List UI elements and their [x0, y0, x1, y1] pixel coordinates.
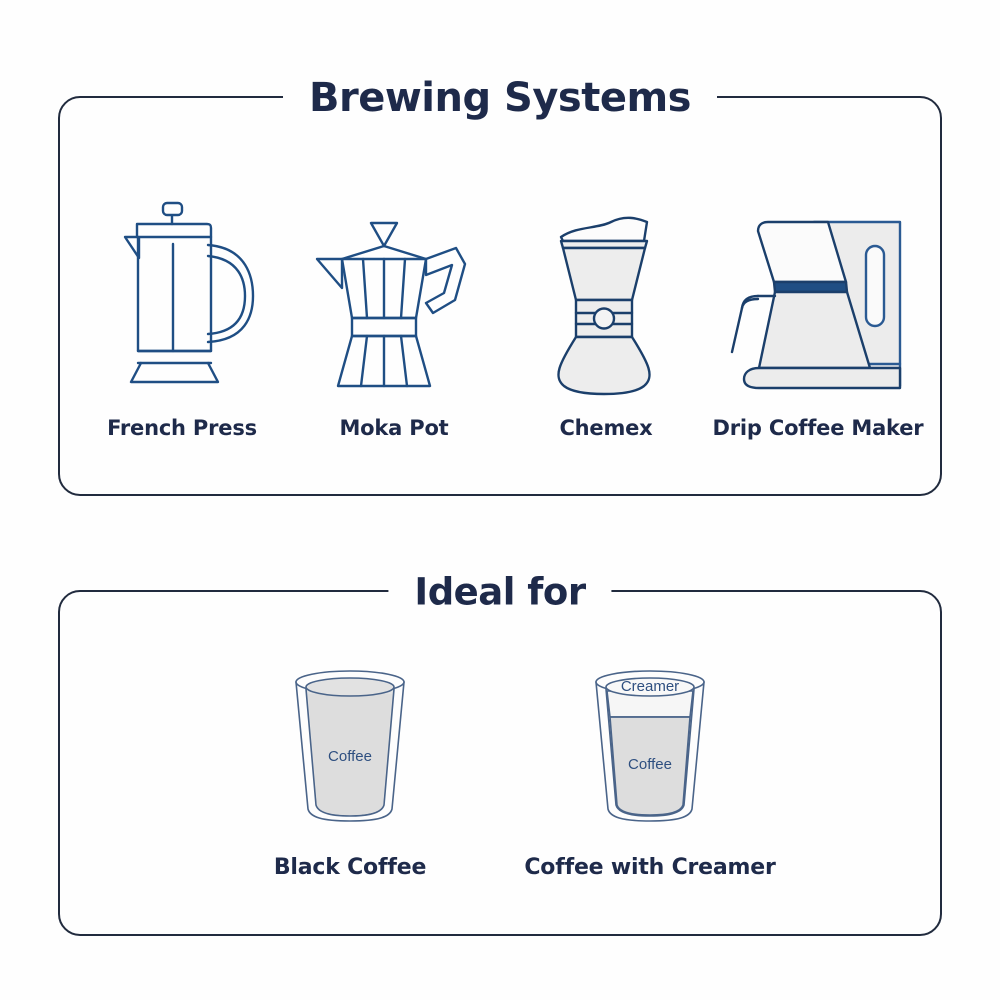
ideal-for-title: Ideal for	[388, 572, 611, 613]
black-coffee-cup-label: Coffee	[328, 748, 372, 765]
black-coffee-art: Coffee	[280, 649, 420, 829]
french-press-label: French Press	[107, 416, 257, 440]
creamer-layer-label: Creamer	[621, 678, 679, 695]
ideal-item-black-coffee[interactable]: Coffee Black Coffee	[200, 649, 500, 880]
brewing-systems-items: French Press	[58, 150, 942, 440]
ideal-item-coffee-with-creamer[interactable]: Creamer Coffee Coffee with Creamer	[500, 649, 800, 880]
drip-coffee-maker-icon	[718, 196, 918, 396]
brewing-item-chemex[interactable]: Chemex	[500, 196, 712, 440]
black-coffee-label: Black Coffee	[274, 855, 426, 880]
moka-pot-label: Moka Pot	[339, 416, 448, 440]
chemex-label: Chemex	[559, 416, 652, 440]
moka-pot-art	[304, 196, 484, 396]
moka-pot-icon	[304, 196, 484, 396]
coffee-with-creamer-art: Creamer Coffee	[580, 649, 720, 829]
coffee-layer-label: Coffee	[628, 756, 672, 773]
coffee-with-creamer-label: Coffee with Creamer	[524, 855, 775, 880]
brewing-item-moka-pot[interactable]: Moka Pot	[288, 196, 500, 440]
drip-coffee-maker-label: Drip Coffee Maker	[713, 416, 924, 440]
brewing-item-drip-coffee-maker[interactable]: Drip Coffee Maker	[712, 196, 924, 440]
coffee-with-creamer-cup-icon: Creamer Coffee	[580, 659, 720, 829]
drip-coffee-maker-art	[718, 196, 918, 396]
chemex-art	[531, 196, 681, 396]
french-press-icon	[97, 196, 267, 396]
infographic-canvas: Brewing Systems	[0, 0, 1000, 1000]
brewing-systems-title: Brewing Systems	[283, 76, 717, 120]
chemex-icon	[531, 196, 681, 396]
ideal-for-items: Coffee Black Coffee	[58, 630, 942, 880]
brewing-item-french-press[interactable]: French Press	[76, 196, 288, 440]
black-coffee-cup-icon: Coffee	[280, 659, 420, 829]
french-press-art	[97, 196, 267, 396]
